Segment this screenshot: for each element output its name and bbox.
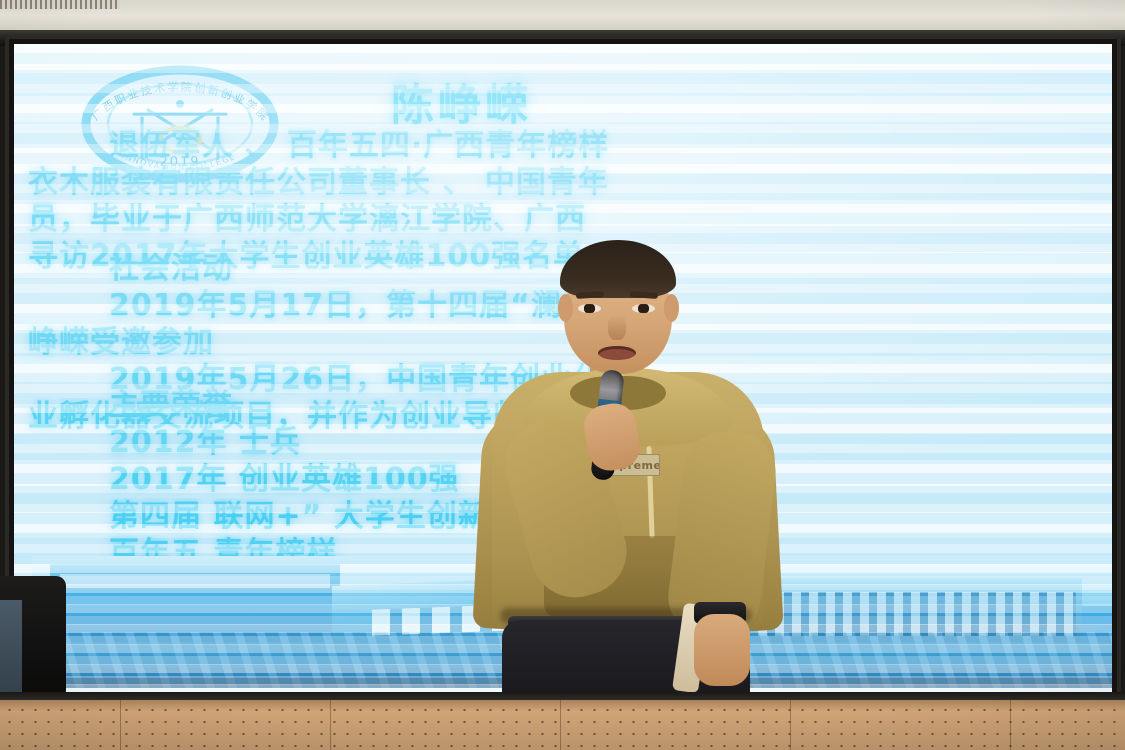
intro-line: 员，毕业于广西师范大学漓江学院、广西	[14, 201, 1112, 238]
hair	[560, 240, 676, 298]
photo-scene: 广西职业技术学院创新创业学院 INNOVATION COLLEGE 2019 陈…	[0, 0, 1125, 750]
eye-right	[632, 304, 655, 313]
hand-left	[694, 614, 750, 686]
room-wall-top	[0, 0, 1125, 34]
nose	[608, 314, 626, 340]
ceiling-vent	[0, 0, 120, 9]
intro-line: 衣木服装有限责任公司董事长 、 中国青年	[14, 164, 1112, 201]
eye-left	[578, 304, 601, 313]
panel-shading	[0, 700, 1125, 750]
speaker: Supreme	[478, 236, 778, 750]
intro-line: 退伍军人 、 百年五四·广西青年榜样	[14, 127, 1112, 164]
mouth	[598, 346, 636, 360]
slide-title: 陈峥嵘	[391, 71, 532, 133]
acoustic-panel-wall	[0, 700, 1125, 750]
ear-right	[664, 294, 679, 322]
ear-left	[558, 294, 573, 322]
